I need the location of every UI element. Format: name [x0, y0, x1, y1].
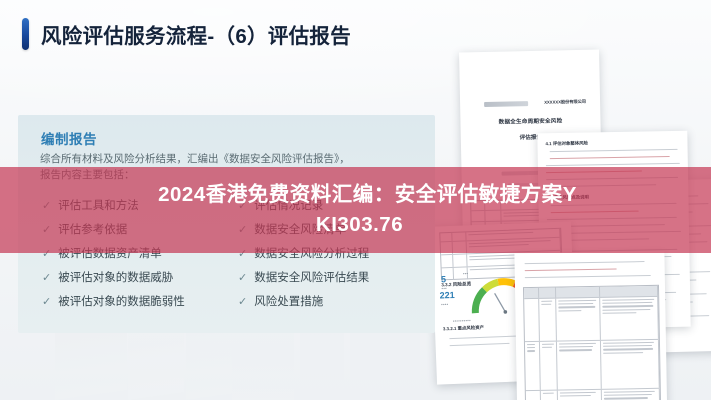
list-item: ✓ 数据安全风险评估结果: [238, 269, 422, 293]
analysis-section-1: 4.1 评估对象整体风险: [545, 140, 588, 147]
check-icon: ✓: [42, 269, 51, 287]
metric-primary: 5: [441, 274, 446, 284]
overview-subsection-label: 3.3.2.1 重点风险资产: [443, 325, 484, 333]
slide-canvas: 风险评估服务流程-（6）评估报告 XXXXXX股份有限公司 数据全生命周期安全风…: [0, 0, 711, 400]
card-heading: 编制报告: [41, 128, 97, 148]
title-accent-bar: [22, 18, 29, 50]
list-item-label: 数据安全风险评估结果: [254, 269, 369, 287]
list-item-label: 被评估对象的数据威胁: [58, 269, 173, 287]
page-title-row: 风险评估服务流程-（6）评估报告: [22, 18, 351, 50]
watermark-text: 2024香港免费资料汇编：安全评估敏捷方案Y KI303.76: [0, 167, 711, 253]
list-item-label: 被评估对象的数据脆弱性: [58, 293, 185, 311]
metric-secondary: 221: [439, 290, 454, 301]
list-item: ✓ 被评估对象的数据脆弱性: [42, 293, 238, 317]
page-title: 风险评估服务流程-（6）评估报告: [41, 19, 351, 49]
watermark-line-1: 2024香港免费资料汇编：安全评估敏捷方案Y: [134, 180, 577, 210]
cover-title-line1: 数据全生命周期安全风险: [460, 116, 600, 127]
watermark-line-2: KI303.76: [308, 210, 403, 240]
list-item: ✓ 被评估对象的数据威胁: [42, 269, 238, 293]
check-icon: ✓: [238, 269, 247, 287]
list-item-label: 风险处置措施: [254, 293, 323, 311]
check-icon: ✓: [42, 293, 51, 311]
list-item: ✓ 风险处置措施: [238, 293, 422, 317]
card-body-line-1: 综合所有材料及风险分析结果，汇编出《数据安全风险评估报告》，: [40, 151, 422, 167]
document-page-table: [514, 251, 667, 400]
check-icon: ✓: [238, 293, 247, 311]
cover-company-line: XXXXXX股份有限公司: [474, 99, 586, 107]
